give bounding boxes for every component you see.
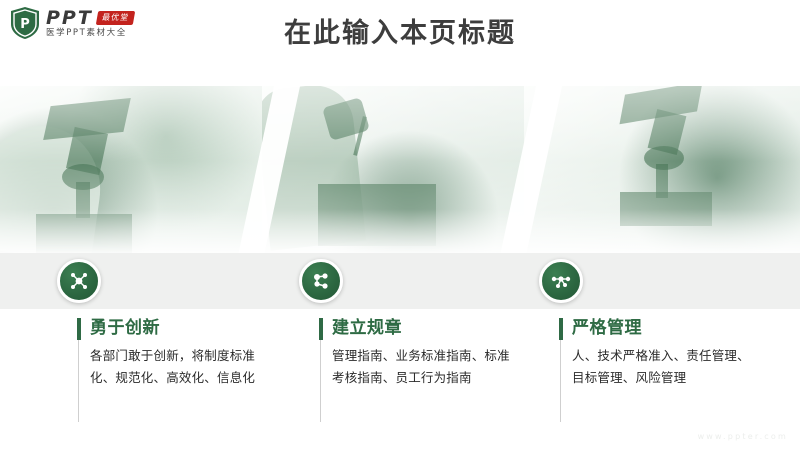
hero-pane-scientist — [524, 86, 800, 253]
column-accent-rule — [320, 318, 321, 422]
feature-column-2: 建立规章 管理指南、业务标准指南、标准考核指南、员工行为指南 — [320, 318, 535, 388]
feature-column-1: 勇于创新 各部门敢于创新，将制度标准化、规范化、高效化、信息化 — [78, 318, 293, 388]
column-body: 管理指南、业务标准指南、标准考核指南、员工行为指南 — [332, 345, 510, 388]
column-body: 各部门敢于创新，将制度标准化、规范化、高效化、信息化 — [90, 345, 268, 388]
divider-band — [0, 253, 800, 309]
column-heading: 勇于创新 — [90, 318, 293, 338]
column-accent-rule — [78, 318, 79, 422]
column-heading: 建立规章 — [332, 318, 535, 338]
molecule-cluster-icon — [299, 259, 343, 303]
column-heading: 严格管理 — [572, 318, 775, 338]
hero-pane-microscope — [0, 86, 268, 253]
column-accent-rule — [560, 318, 561, 422]
site-watermark: www.ppter.com — [698, 432, 788, 441]
molecule-network-icon — [539, 259, 583, 303]
page-title: 在此输入本页标题 — [0, 16, 800, 51]
molecule-icon — [57, 259, 101, 303]
hero-image-band — [0, 86, 800, 253]
column-body: 人、技术严格准入、责任管理、目标管理、风险管理 — [572, 345, 750, 388]
feature-column-3: 严格管理 人、技术严格准入、责任管理、目标管理、风险管理 — [560, 318, 775, 388]
hero-pane-test-tubes — [262, 86, 530, 253]
